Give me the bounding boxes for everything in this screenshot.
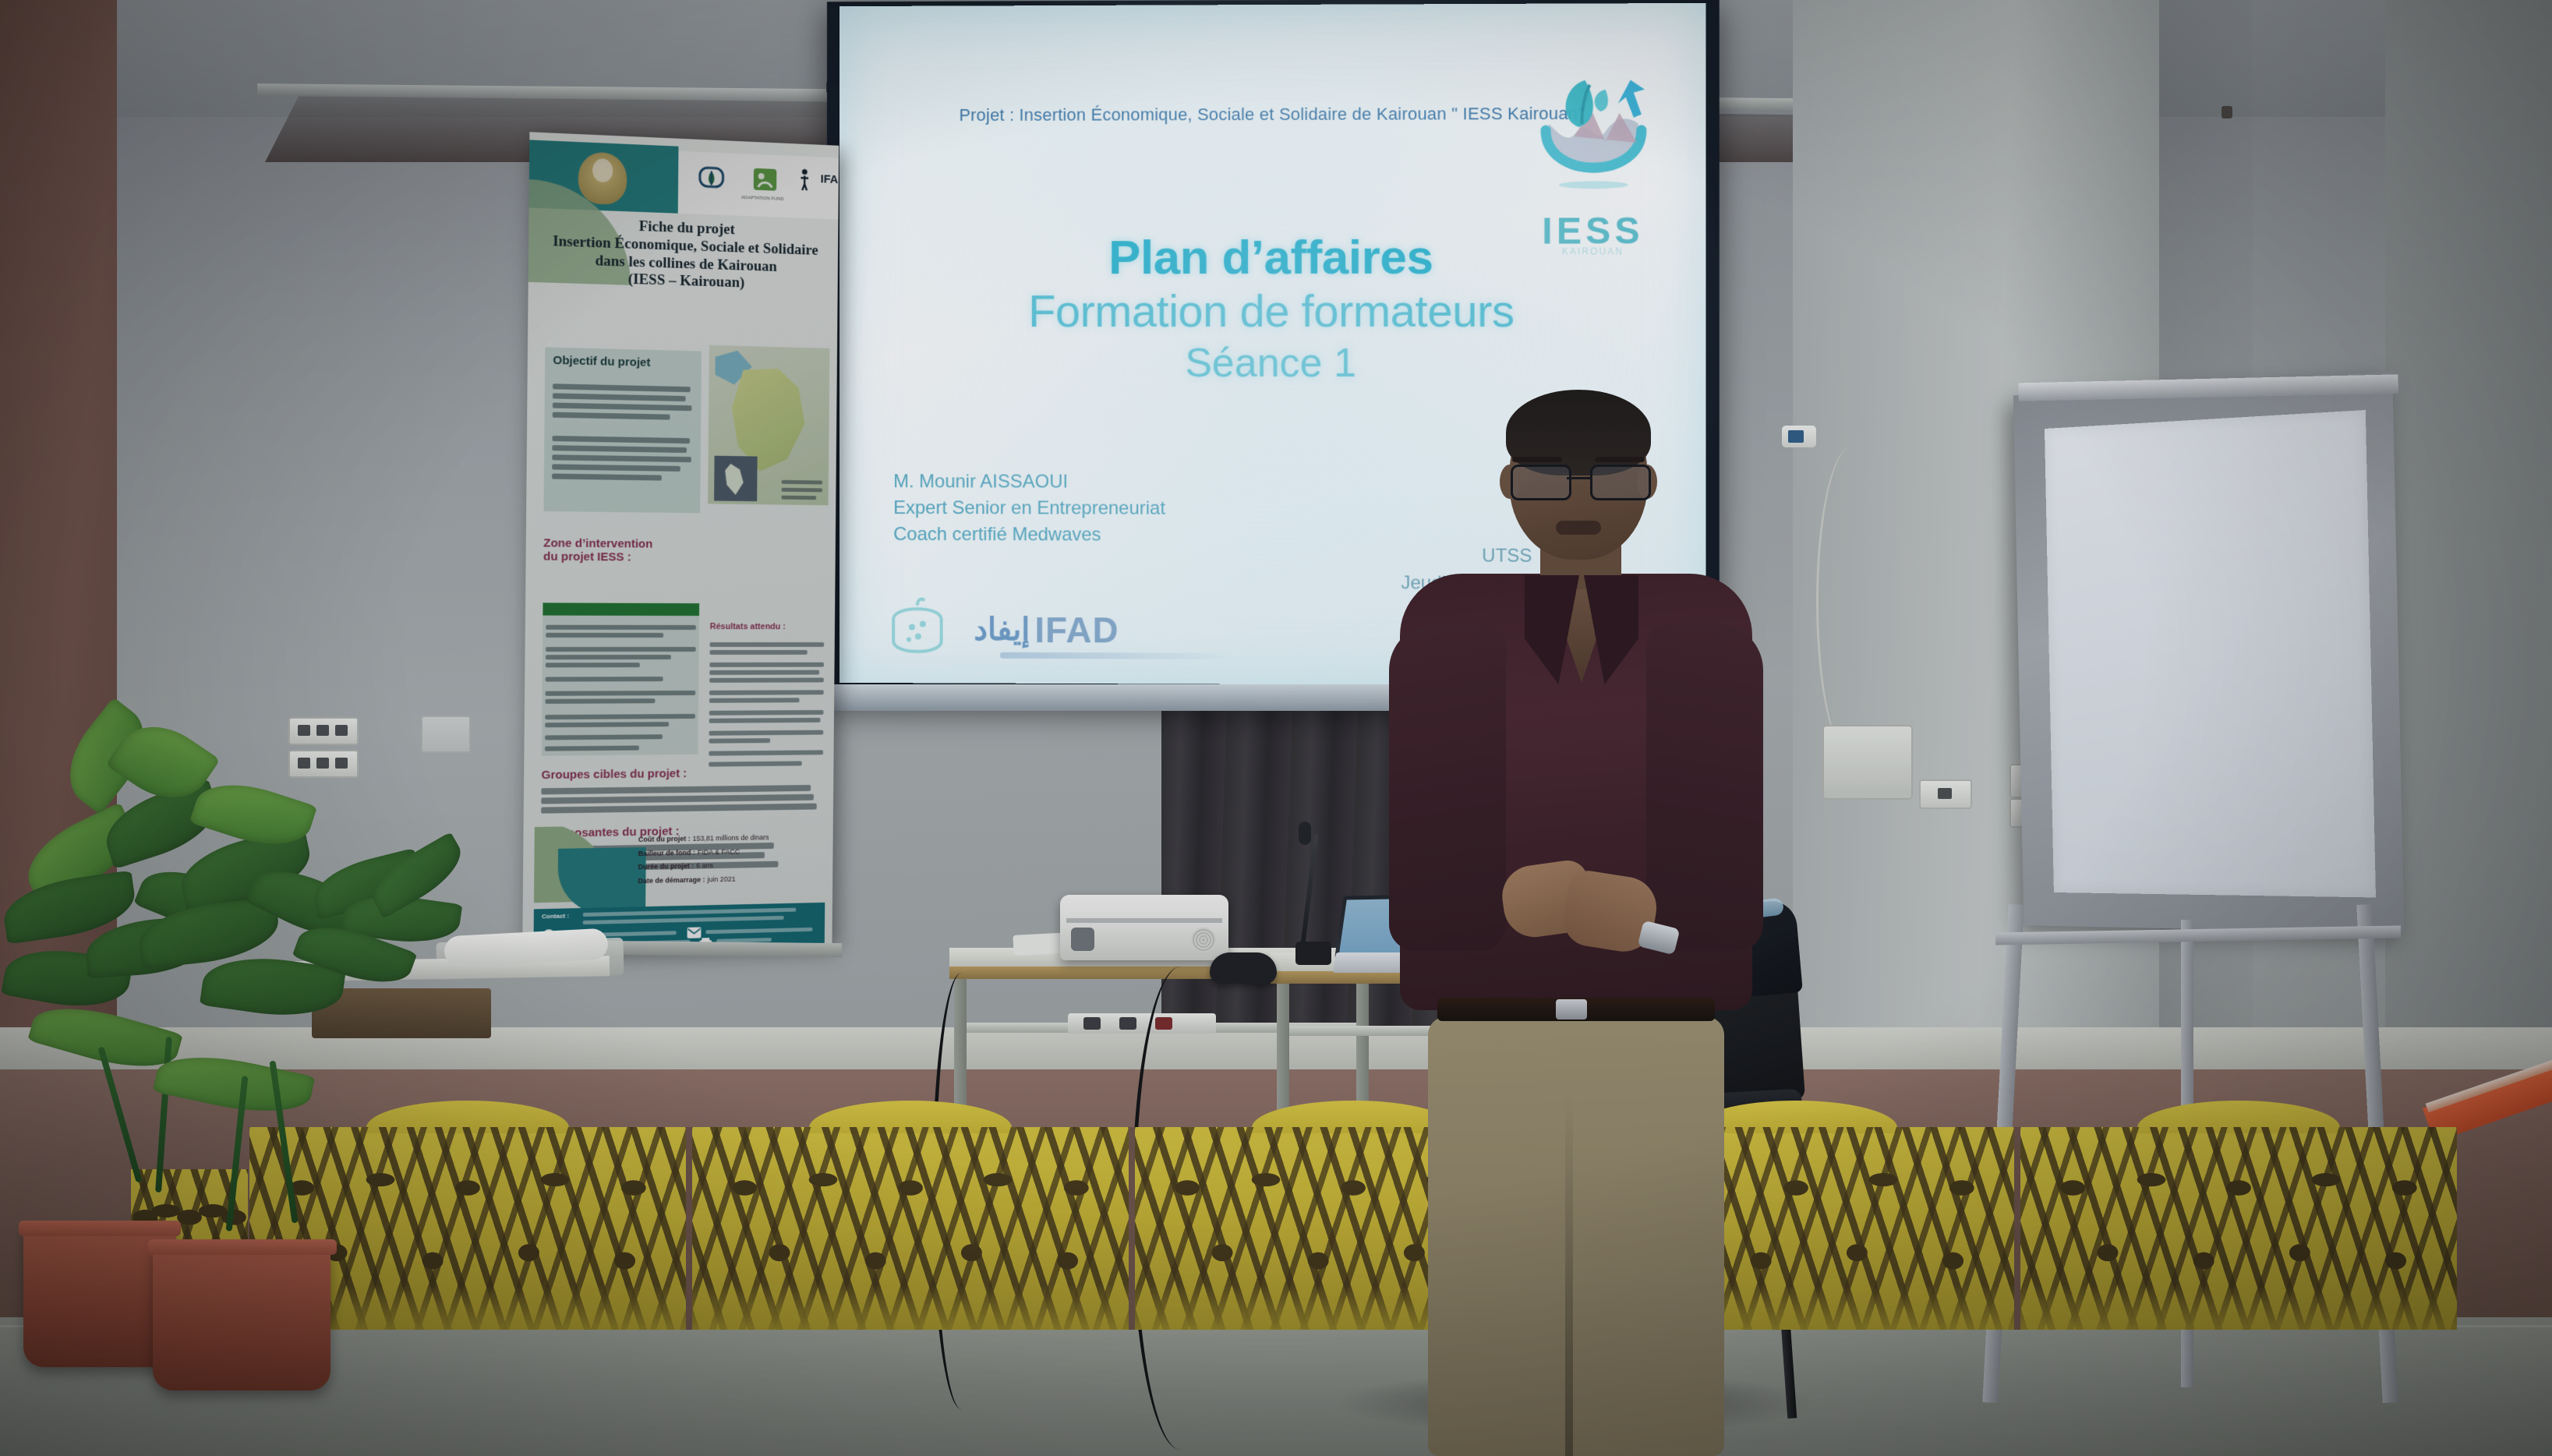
plant-pot-rim xyxy=(19,1221,181,1236)
presenter-right-arm xyxy=(1646,624,1763,951)
ifad-logo-arabic: إيفاد xyxy=(974,612,1030,648)
email-icon xyxy=(687,927,702,938)
presenter-role: Expert Senior en Entrepreneuriat xyxy=(893,495,1165,522)
iess-logo-icon xyxy=(1527,65,1660,230)
presenter-trousers xyxy=(1428,1016,1724,1456)
banner-zone-table xyxy=(542,603,699,755)
presenter-hair xyxy=(1506,390,1651,475)
start-label: Date de démarrage : xyxy=(638,875,705,885)
room-photo-scene: Projet : Insertion Économique, Sociale e… xyxy=(0,0,2552,1456)
wall-plate xyxy=(421,716,471,753)
power-adapter xyxy=(1295,942,1331,965)
start-value: juin 2021 xyxy=(707,875,735,883)
floor xyxy=(0,1317,2552,1456)
ifad-logo-wordmark: IFAD xyxy=(1034,609,1119,651)
banner-ifad-wordmark: IFAD xyxy=(821,172,839,186)
presenter-figure xyxy=(1372,390,1777,1456)
fretwork-pattern xyxy=(692,1127,1129,1330)
belt-buckle xyxy=(1556,999,1587,1020)
banner-zone-heading-block: Zone d’intervention du projet IESS : xyxy=(543,536,652,564)
banner-zone-heading-2: du projet IESS : xyxy=(543,550,652,564)
banner-title-block: Fiche du projet Insertion Économique, So… xyxy=(541,214,829,295)
far-right-wall xyxy=(2385,0,2552,1091)
wall-sensor xyxy=(1782,426,1816,447)
banner-zone-heading: Zone d’intervention xyxy=(543,536,652,550)
video-projector[interactable] xyxy=(1060,895,1228,960)
fretwork-panel xyxy=(2020,1127,2457,1330)
duration-label: Durée du projet : xyxy=(638,862,695,871)
fretwork-pattern xyxy=(2020,1127,2457,1330)
slide-title-block: Plan d’affaires Formation de formateurs … xyxy=(839,230,1706,387)
projector-vent xyxy=(1191,928,1216,952)
ministry-agriculture-logo-icon xyxy=(698,164,725,192)
crda-logo-icon xyxy=(884,596,950,663)
banner-objective-heading: Objectif du projet xyxy=(553,354,650,369)
slide-title-line1: Plan d’affaires xyxy=(839,230,1706,285)
microphone-head xyxy=(1299,822,1311,845)
adaptation-fund-logo-icon xyxy=(752,167,779,194)
flipchart-paper xyxy=(2045,410,2376,898)
presenter-certification: Coach certifié Medwaves xyxy=(893,521,1165,549)
banner-target-heading: Groupes cibles du projet : xyxy=(541,765,820,782)
fretwork-seam xyxy=(2014,1127,2020,1330)
banner-target-block: Groupes cibles du projet : xyxy=(541,765,820,814)
presenter-mouth xyxy=(1556,521,1601,535)
wall-outlet xyxy=(288,750,359,778)
contact-label: Contact : xyxy=(542,912,569,920)
computer-mouse[interactable] xyxy=(1210,952,1277,984)
banner-footer-teal-leaf xyxy=(557,847,645,915)
ifad-logo: إيفاد IFAD xyxy=(974,609,1119,651)
banner-ifad-logo-icon xyxy=(797,167,817,191)
slide-footer-logos: إيفاد IFAD xyxy=(884,596,1119,664)
eyeglasses-icon xyxy=(1509,465,1649,497)
presenter-eyebrow xyxy=(1512,457,1562,462)
junction-box xyxy=(1822,725,1913,800)
presenter-name: M. Mounir AISSAOUI xyxy=(893,468,1165,496)
banner-objective-panel: Objectif du projet xyxy=(544,347,702,513)
banner-results-panel: Résultats attendu : xyxy=(709,622,825,767)
map-inset-tunisia xyxy=(714,456,758,502)
ifad-logo-tagline xyxy=(1000,652,1233,659)
duration-value: 6 ans xyxy=(696,861,713,869)
banner-zone-table-header xyxy=(543,603,699,616)
adaptation-fund-label: ADAPTATION FUND xyxy=(740,196,786,202)
fretwork-seam xyxy=(1129,1127,1135,1330)
banner-partner-logos: ADAPTATION FUND IFAD xyxy=(678,151,839,220)
fretwork-panel xyxy=(692,1127,1129,1330)
funder-label: Bailleur de fond : xyxy=(638,848,695,857)
banner-results-heading: Résultats attendu : xyxy=(710,622,826,631)
slide-title-line3: Séance 1 xyxy=(839,339,1706,388)
presenter-leg-seam xyxy=(1565,1091,1573,1456)
wall-cable xyxy=(1816,446,1889,758)
plant-pot xyxy=(153,1244,330,1391)
roll-up-banner: ADAPTATION FUND IFAD Fiche du projet Ins… xyxy=(522,132,839,952)
cost-value: 153,81 millions de dinars xyxy=(693,833,769,843)
banner-ifad-tagline xyxy=(802,196,839,202)
wall-outlet xyxy=(288,717,359,745)
fretwork-seam xyxy=(686,1127,692,1330)
banner-map-image xyxy=(708,345,829,505)
wall-outlet xyxy=(1919,779,1972,809)
presenter-left-arm xyxy=(1389,624,1506,951)
banner-project-facts: Coût du projet : 153,81 millions de dina… xyxy=(638,830,827,889)
projector-lens xyxy=(1071,928,1094,951)
presenter-eyebrow xyxy=(1595,457,1645,462)
funder-value: FIDA & FACC xyxy=(698,847,740,856)
slide-presenter-block: M. Mounir AISSAOUI Expert Senior en Entr… xyxy=(893,468,1165,549)
plant-pot-rim xyxy=(148,1239,337,1255)
ministry-logo-label xyxy=(688,193,734,200)
slide-title-line2: Formation de formateurs xyxy=(839,284,1706,339)
cost-label: Coût du projet : xyxy=(638,835,691,843)
